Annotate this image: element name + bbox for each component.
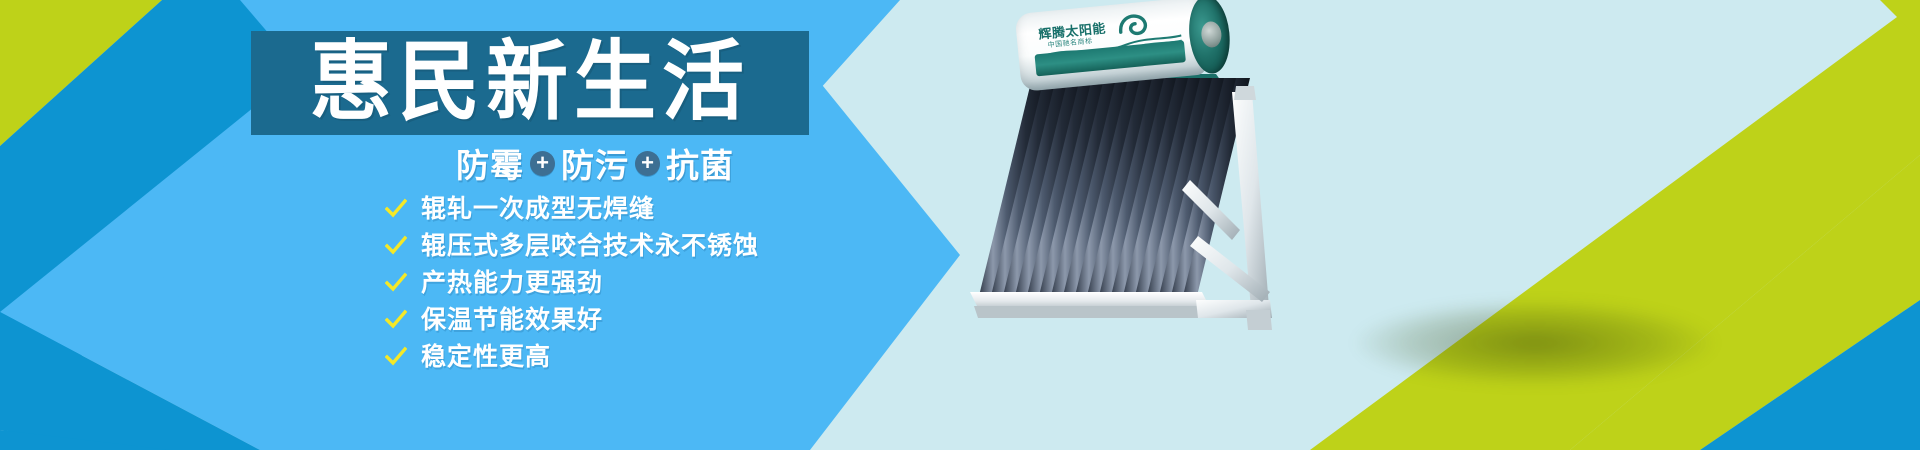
list-item: 辊压式多层咬合技术永不锈蚀 [385,229,905,262]
tank-logo-icon [1115,9,1152,46]
feature-text: 保温节能效果好 [421,307,603,332]
vacuum-tubes [978,78,1250,300]
check-icon [385,198,407,220]
tank-cap-hub [1200,21,1222,49]
subtitle-word-1: 防霉 [456,139,524,187]
feature-text: 产热能力更强劲 [421,270,603,295]
subtitle-word-3: 抗菌 [666,139,734,187]
subtitle-row: 防霉 + 防污 + 抗菌 [380,143,810,183]
feature-text: 稳定性更高 [421,344,551,369]
check-icon [385,272,407,294]
list-item: 稳定性更高 [385,340,905,373]
plus-icon-2: + [635,151,660,176]
promo-banner: 辉腾太阳能 中国驰名商标 惠民新生活 防霉 + 防污 + 抗菌 辊轧一次成型无焊… [0,0,1920,450]
subtitle-word-2: 防污 [561,139,629,187]
solar-water-heater-image: 辉腾太阳能 中国驰名商标 [940,0,1500,400]
list-item: 产热能力更强劲 [385,266,905,299]
feature-text: 辊轧一次成型无焊缝 [421,196,655,221]
banner-title: 惠民新生活 [310,40,750,127]
list-item: 辊轧一次成型无焊缝 [385,192,905,225]
feature-text: 辊压式多层咬合技术永不锈蚀 [421,233,759,258]
feature-list: 辊轧一次成型无焊缝 辊压式多层咬合技术永不锈蚀 产热能力更强劲 保温节能效果好 [385,192,905,373]
check-icon [385,346,407,368]
collector-bottom-rail [970,292,1212,318]
plus-icon-1: + [530,151,555,176]
check-icon [385,235,407,257]
check-icon [385,309,407,331]
list-item: 保温节能效果好 [385,303,905,336]
title-block: 惠民新生活 [251,31,809,135]
